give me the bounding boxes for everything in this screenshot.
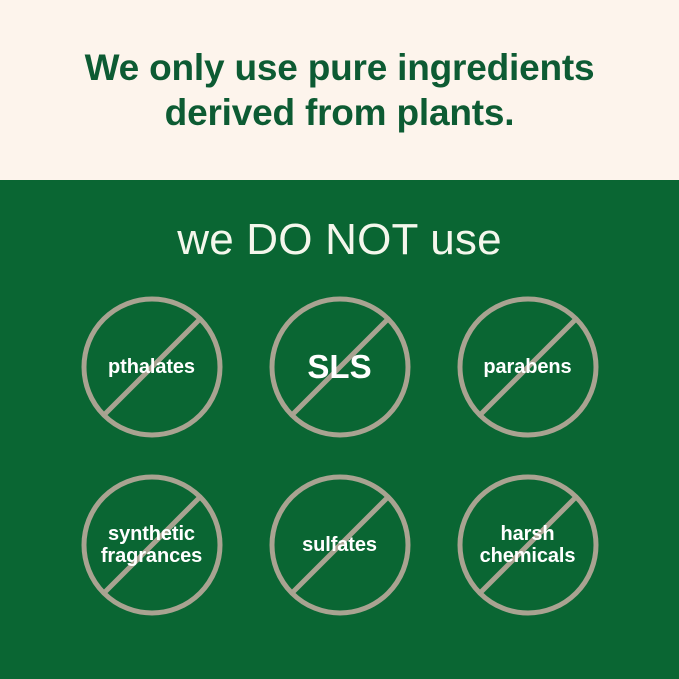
excluded-ingredient-label: synthetic fragrances (101, 523, 202, 568)
excluded-ingredients-row: pthalates SLS parabens (0, 296, 679, 438)
page-title: We only use pure ingredients derived fro… (0, 45, 679, 136)
excluded-ingredient-badge: SLS (246, 296, 434, 438)
excluded-ingredient-badge: synthetic fragrances (58, 474, 246, 616)
headline-band: We only use pure ingredients derived fro… (0, 0, 679, 180)
excluded-ingredient-badge: sulfates (246, 474, 434, 616)
excluded-ingredient-label: sulfates (302, 534, 377, 556)
excluded-ingredients-row: synthetic fragrances sulfates harsh chem… (0, 474, 679, 616)
excluded-ingredient-label: parabens (483, 356, 571, 378)
excluded-ingredient-badge: parabens (434, 296, 622, 438)
excluded-ingredient-label: pthalates (108, 356, 195, 378)
excluded-ingredient-badge: harsh chemicals (434, 474, 622, 616)
ingredient-claims-poster: We only use pure ingredients derived fro… (0, 0, 679, 679)
do-not-use-panel: we DO NOT use pthalates SLS (0, 180, 679, 679)
excluded-ingredient-badge: pthalates (58, 296, 246, 438)
excluded-ingredients-grid: pthalates SLS parabens (0, 296, 679, 616)
section-subtitle: we DO NOT use (0, 218, 679, 262)
excluded-ingredient-label: harsh chemicals (480, 523, 576, 568)
excluded-ingredient-label: SLS (307, 349, 371, 386)
